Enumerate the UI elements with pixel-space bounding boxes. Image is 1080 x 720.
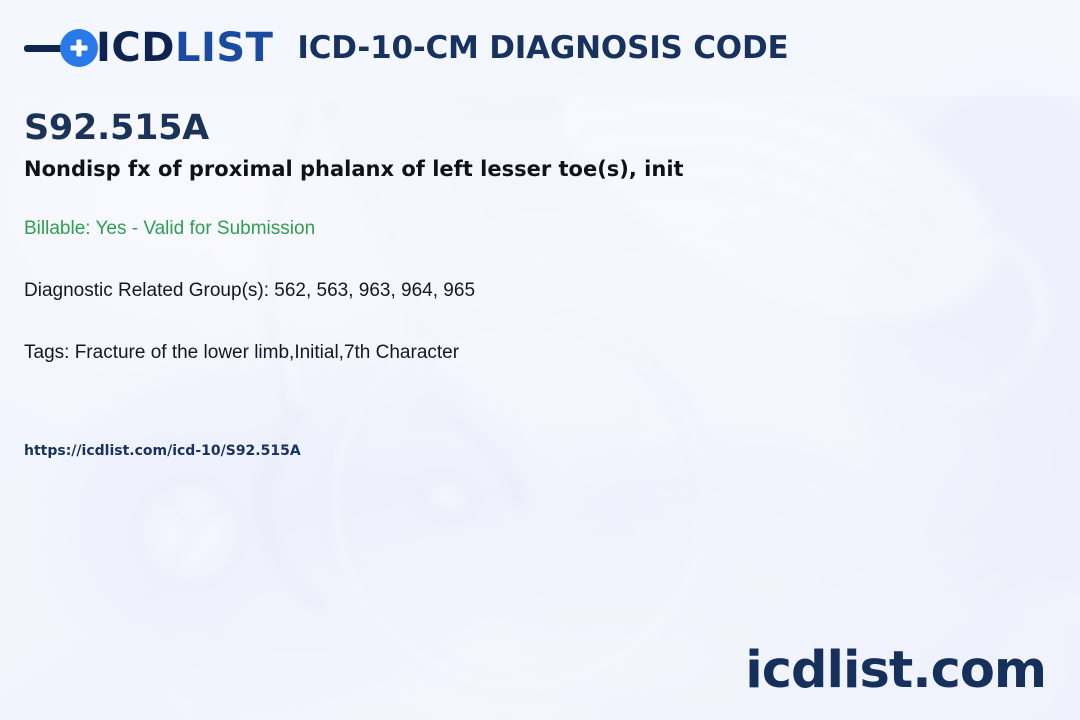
diagnostic-related-groups: Diagnostic Related Group(s): 562, 563, 9… xyxy=(24,279,924,304)
billable-status: Billable: Yes - Valid for Submission xyxy=(24,217,924,242)
page-title: ICD-10-CM DIAGNOSIS CODE xyxy=(297,33,788,64)
icdlist-logo[interactable]: ICDLIST xyxy=(24,20,273,76)
page-header: ICDLIST ICD-10-CM DIAGNOSIS CODE xyxy=(0,0,1080,96)
logo-wordmark: ICDLIST xyxy=(96,28,273,68)
diagnosis-code: S92.515A xyxy=(24,108,924,148)
plus-icon xyxy=(60,29,98,67)
dash-icon xyxy=(24,45,64,52)
logo-word-list: LIST xyxy=(175,25,273,71)
logo-word-icd: ICD xyxy=(96,25,175,71)
diagnosis-description: Nondisp fx of proximal phalanx of left l… xyxy=(24,156,924,182)
poster-card: ICDLIST ICD-10-CM DIAGNOSIS CODE S92.515… xyxy=(0,0,1080,720)
source-url-link[interactable]: https://icdlist.com/icd-10/S92.515A xyxy=(24,442,301,460)
code-detail-panel: S92.515A Nondisp fx of proximal phalanx … xyxy=(24,108,924,460)
tags-list: Tags: Fracture of the lower limb,Initial… xyxy=(24,341,924,366)
footer-brand-wordmark: icdlist.com xyxy=(745,645,1046,696)
